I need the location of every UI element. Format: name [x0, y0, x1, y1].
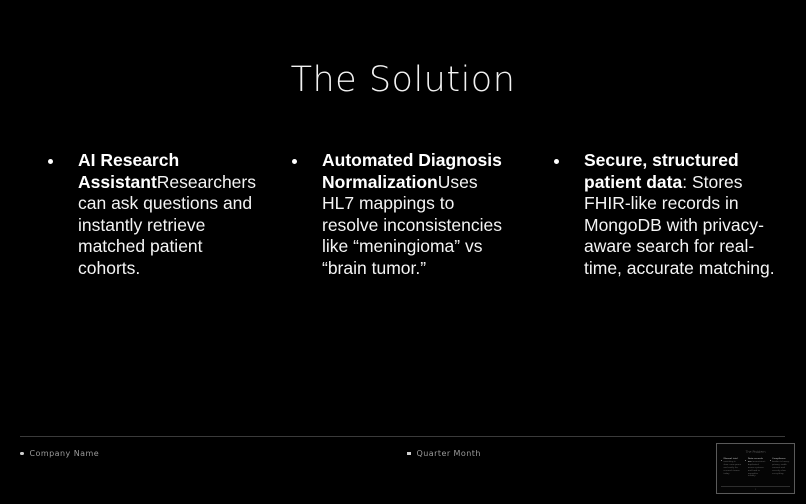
footer-quarter-label: Quarter Month: [417, 449, 481, 458]
page-title: The Solution: [0, 60, 806, 100]
thumbnail-page-number: 2: [717, 489, 794, 491]
slide-thumbnail-preview[interactable]: The Problem Manual trial matching is slo…: [716, 443, 795, 494]
bullet-column-1-body: AI Research AssistantResearchers can ask…: [78, 150, 263, 280]
thumbnail-column-3: Compliance burden is heavy: privacy, aud…: [770, 458, 790, 478]
round-bullet-icon: [292, 159, 297, 164]
bullet-column-3-body: Secure, structured patient data: Stores …: [584, 150, 776, 280]
thumbnail-column-3-body: Compliance burden is heavy: privacy, aud…: [772, 458, 790, 475]
bullet-column-3: Secure, structured patient data: Stores …: [554, 150, 776, 280]
bullet-column-2-body: Automated Diagnosis NormalizationUses HL…: [322, 150, 514, 280]
square-marker-icon: [407, 452, 411, 456]
thumbnail-column-1-rest: matching is slow, error-prone and costly…: [724, 461, 742, 475]
footer-quarter: Quarter Month: [407, 449, 481, 458]
round-bullet-icon: [554, 159, 559, 164]
round-bullet-icon: [48, 159, 53, 164]
thumbnail-column-2: Data records are inconsistent, duplicate…: [745, 458, 765, 478]
thumbnail-column-3-rest: burden is heavy: privacy, audit, consent…: [772, 461, 789, 475]
footer-company-label: Company Name: [30, 449, 100, 458]
thumbnail-column-1-lead: Manual trial: [724, 458, 738, 460]
footer-divider: [20, 436, 785, 437]
thumbnail-title: The Problem: [717, 450, 794, 454]
thumbnail-column-2-body: Data records are inconsistent, duplicate…: [748, 458, 766, 478]
bullet-column-2: Automated Diagnosis NormalizationUses HL…: [292, 150, 514, 280]
thumbnail-column-2-rest: inconsistent, duplicated across systems …: [748, 461, 766, 478]
bullet-column-1: AI Research AssistantResearchers can ask…: [48, 150, 263, 280]
thumbnail-columns: Manual trial matching is slow, error-pro…: [721, 458, 790, 478]
thumbnail-divider: [721, 486, 790, 487]
thumbnail-column-1-body: Manual trial matching is slow, error-pro…: [724, 458, 742, 475]
presentation-slide: The Solution AI Research AssistantResear…: [0, 0, 806, 504]
round-marker-icon: [20, 452, 24, 456]
thumbnail-column-1: Manual trial matching is slow, error-pro…: [721, 458, 741, 478]
footer-company: Company Name: [20, 449, 99, 458]
thumbnail-column-3-lead: Compliance: [772, 458, 786, 460]
round-bullet-icon: [721, 460, 722, 461]
round-bullet-icon: [745, 460, 746, 461]
round-bullet-icon: [770, 460, 771, 461]
